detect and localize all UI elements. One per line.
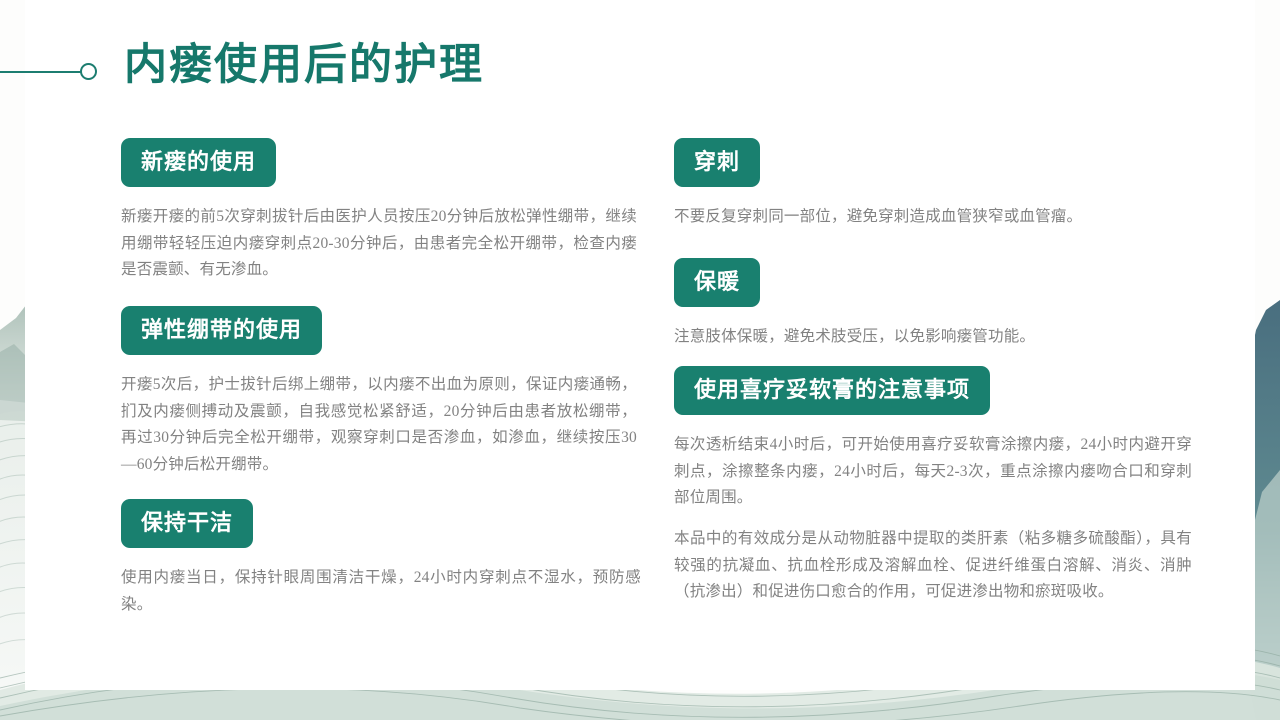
page-title: 内瘘使用后的护理 bbox=[124, 42, 484, 89]
section-heading-badge: 保持干洁 bbox=[121, 499, 253, 548]
slide-header: 内瘘使用后的护理 bbox=[0, 0, 1280, 120]
section-heading-badge: 弹性绷带的使用 bbox=[121, 306, 322, 355]
title-rule-line bbox=[0, 71, 82, 73]
section-paragraph: 不要反复穿刺同一部位，避免穿刺造成血管狭窄或血管瘤。 bbox=[674, 204, 1204, 231]
slide-canvas: 内瘘使用后的护理 新瘘的使用 新瘘开瘘的前5次穿刺拔针后由医护人员按压20分钟后… bbox=[0, 0, 1280, 720]
section-paragraph: 新瘘开瘘的前5次穿刺拔针后由医护人员按压20分钟后放松弹性绷带，继续用绷带轻轻压… bbox=[121, 204, 637, 284]
section-paragraph: 每次透析结束4小时后，可开始使用喜疗妥软膏涂擦内瘘，24小时内避开穿刺点，涂擦整… bbox=[674, 432, 1192, 512]
section-heading-badge: 使用喜疗妥软膏的注意事项 bbox=[674, 366, 990, 415]
title-circle-icon bbox=[80, 63, 97, 80]
section-paragraph: 本品中的有效成分是从动物脏器中提取的类肝素（粘多糖多硫酸酯），具有较强的抗凝血、… bbox=[674, 526, 1192, 606]
section-puncture: 穿刺 不要反复穿刺同一部位，避免穿刺造成血管狭窄或血管瘤。 bbox=[674, 138, 1204, 231]
section-paragraph: 开瘘5次后，护士拔针后绑上绷带，以内瘘不出血为原则，保证内瘘通畅，扪及内瘘侧搏动… bbox=[121, 372, 637, 479]
section-heading-badge: 新瘘的使用 bbox=[121, 138, 276, 187]
section-keep-dry-clean: 保持干洁 使用内瘘当日，保持针眼周围清洁干燥，24小时内穿刺点不湿水，预防感染。 bbox=[121, 499, 651, 618]
section-keep-warm: 保暖 注意肢体保暖，避免术肢受压，以免影响瘘管功能。 bbox=[674, 258, 1204, 351]
section-heading-badge: 穿刺 bbox=[674, 138, 760, 187]
section-new-fistula-use: 新瘘的使用 新瘘开瘘的前5次穿刺拔针后由医护人员按压20分钟后放松弹性绷带，继续… bbox=[121, 138, 651, 284]
section-heading-badge: 保暖 bbox=[674, 258, 760, 307]
section-paragraph: 注意肢体保暖，避免术肢受压，以免影响瘘管功能。 bbox=[674, 324, 1204, 351]
section-paragraph: 使用内瘘当日，保持针眼周围清洁干燥，24小时内穿刺点不湿水，预防感染。 bbox=[121, 565, 641, 618]
section-elastic-bandage-use: 弹性绷带的使用 开瘘5次后，护士拔针后绑上绷带，以内瘘不出血为原则，保证内瘘通畅… bbox=[121, 306, 651, 479]
section-hirudoid-ointment-notes: 使用喜疗妥软膏的注意事项 每次透析结束4小时后，可开始使用喜疗妥软膏涂擦内瘘，2… bbox=[674, 366, 1214, 606]
